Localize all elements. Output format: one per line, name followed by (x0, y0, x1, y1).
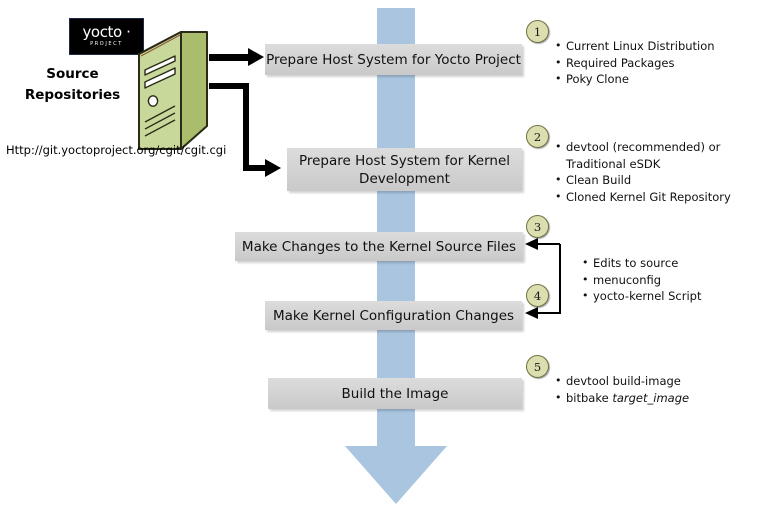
process-box-step3[interactable]: Make Changes to the Kernel Source Files (235, 232, 523, 261)
list-item: Edits to source (593, 255, 760, 272)
bullet-list-step1: Current Linux Distribution Required Pack… (553, 38, 763, 88)
feedback-bracket-to-step3 (537, 243, 560, 245)
bullet-list-step5: devtool build-image bitbake target_image (553, 373, 753, 406)
source-repositories-label: Source Repositories (10, 64, 135, 106)
process-box-step5[interactable]: Build the Image (268, 378, 522, 409)
feedback-bracket-to-step4 (537, 312, 560, 314)
bitbake-target-image-arg: target_image (612, 391, 689, 405)
list-item: Current Linux Distribution (566, 38, 763, 55)
step-number-4: 4 (526, 284, 549, 307)
server-icon (137, 30, 209, 152)
list-item: menuconfig (593, 272, 760, 289)
process-box-step4[interactable]: Make Kernel Configuration Changes (265, 301, 522, 330)
connector-source-to-step2-segment-b (243, 83, 249, 171)
feedback-bracket-vertical (559, 244, 561, 314)
list-item: Required Packages (566, 55, 763, 72)
step-number-3: 3 (526, 215, 549, 238)
list-item: Clean Build (566, 172, 765, 189)
arrowhead-to-step3 (525, 238, 538, 250)
step-number-2: 2 (526, 125, 549, 148)
arrowhead-to-step4 (525, 307, 538, 319)
process-box-step1[interactable]: Prepare Host System for Yocto Project (265, 44, 522, 75)
yocto-project-logo: yocto · PROJECT (69, 18, 144, 55)
step-number-1: 1 (526, 20, 549, 43)
process-box-step2[interactable]: Prepare Host System for Kernel Developme… (287, 148, 522, 191)
main-flow-arrow-head (345, 446, 447, 504)
yocto-logo-subtext: PROJECT (90, 41, 123, 48)
source-label-line1: Source (10, 64, 135, 85)
bitbake-command-prefix: bitbake (566, 391, 612, 405)
bullet-list-step2: devtool (recommended) or Traditional eSD… (553, 139, 765, 205)
source-repository-url: Http://git.yoctoproject.org/cgit/cgit.cg… (6, 143, 236, 157)
source-label-line2: Repositories (10, 85, 135, 106)
list-item: devtool (recommended) or Traditional eSD… (566, 139, 765, 172)
list-item: Poky Clone (566, 71, 763, 88)
list-item: bitbake target_image (566, 390, 753, 407)
list-item: devtool build-image (566, 373, 753, 390)
arrowhead-source-to-step1 (248, 48, 264, 66)
connector-source-to-step1 (209, 54, 251, 61)
arrowhead-source-to-step2 (265, 159, 281, 177)
step-number-5: 5 (526, 355, 549, 378)
yocto-logo-wordmark: yocto · (82, 25, 130, 40)
diagram-canvas: yocto · PROJECT Source Repositories Http… (0, 0, 769, 517)
list-item: Cloned Kernel Git Repository (566, 189, 765, 206)
list-item: yocto-kernel Script (593, 288, 760, 305)
bullet-list-steps-3-and-4: Edits to source menuconfig yocto-kernel … (580, 255, 760, 305)
